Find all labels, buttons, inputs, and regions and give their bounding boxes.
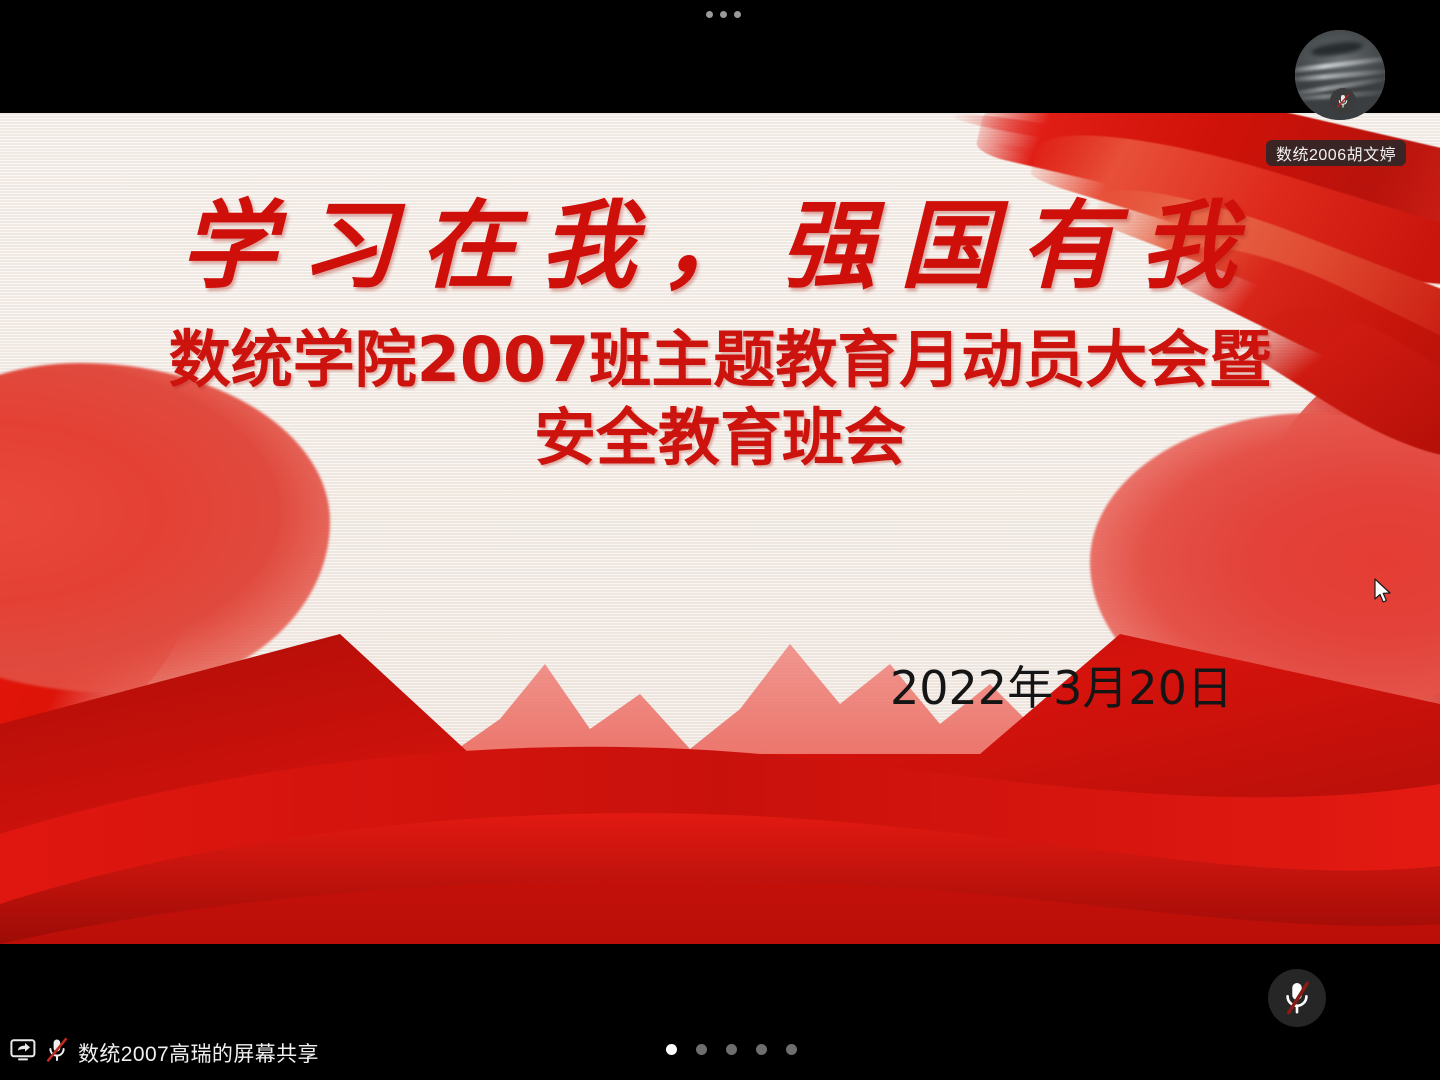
slide-calligraphy-title: 学习在我，强国有我 — [0, 168, 1440, 307]
screen-share-status-label: 数统2007高瑞的屏幕共享 — [78, 1038, 319, 1068]
top-bar — [0, 0, 1440, 113]
screen-share-icon — [10, 1038, 36, 1067]
page-dot-3[interactable] — [726, 1044, 737, 1055]
slide-subtitle-line-2: 安全教育班会 — [0, 399, 1440, 477]
mic-muted-icon — [45, 1037, 69, 1068]
screen-share-status: 数统2007高瑞的屏幕共享 — [10, 1037, 319, 1068]
self-video-thumbnail[interactable] — [1295, 30, 1385, 120]
participant-name-badge: 数统2006胡文婷 — [1266, 140, 1406, 166]
slide-subtitle: 数统学院2007班主题教育月动员大会暨 安全教育班会 — [0, 321, 1440, 477]
meeting-screen-share-view: 学习在我，强国有我 数统学院2007班主题教育月动员大会暨 安全教育班会 202… — [0, 0, 1440, 1080]
page-dot-2[interactable] — [696, 1044, 707, 1055]
page-indicator-dots[interactable] — [666, 1044, 797, 1055]
shared-slide-stage[interactable]: 学习在我，强国有我 数统学院2007班主题教育月动员大会暨 安全教育班会 202… — [0, 113, 1440, 944]
slide-date: 2022年3月20日 — [890, 652, 1233, 718]
mute-toggle-button[interactable] — [1268, 969, 1326, 1027]
bottom-bar: 数统2007高瑞的屏幕共享 — [0, 944, 1440, 1080]
page-dot-5[interactable] — [786, 1044, 797, 1055]
slide-subtitle-line-1: 数统学院2007班主题教育月动员大会暨 — [169, 323, 1272, 396]
more-options-icon[interactable] — [706, 11, 741, 18]
page-dot-4[interactable] — [756, 1044, 767, 1055]
page-dot-1[interactable] — [666, 1044, 677, 1055]
mic-muted-icon — [1330, 88, 1356, 114]
